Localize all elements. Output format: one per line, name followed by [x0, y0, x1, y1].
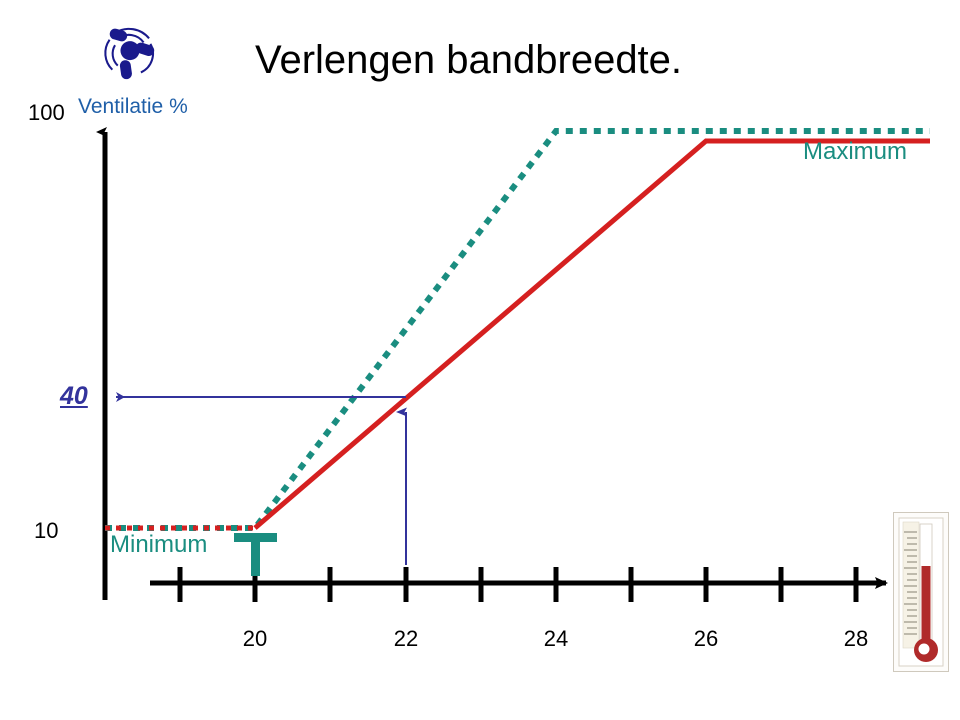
series-maximum-line: [105, 131, 930, 528]
x-tick-label: 22: [394, 626, 418, 652]
y-tick-label-40: 40: [60, 382, 88, 411]
y-tick-label-100: 100: [28, 100, 65, 126]
x-tick-label: 26: [694, 626, 718, 652]
thermometer-icon: [893, 512, 949, 672]
slide-canvas: Verlengen bandbreedte. Ventilatie % 100 …: [0, 0, 960, 720]
page-title: Verlengen bandbreedte.: [255, 38, 682, 83]
y-axis-label: Ventilatie %: [78, 95, 188, 119]
y-tick-label-10: 10: [34, 518, 58, 544]
setpoint-t-marker: [234, 533, 277, 576]
x-axis: [150, 567, 886, 602]
x-tick-label: 28: [844, 626, 868, 652]
series-minimum-line: [105, 141, 930, 528]
series-label-maximum: Maximum: [803, 138, 907, 166]
series-label-minimum: Minimum: [110, 531, 207, 559]
x-tick-label: 24: [544, 626, 568, 652]
x-tick-label: 20: [243, 626, 267, 652]
